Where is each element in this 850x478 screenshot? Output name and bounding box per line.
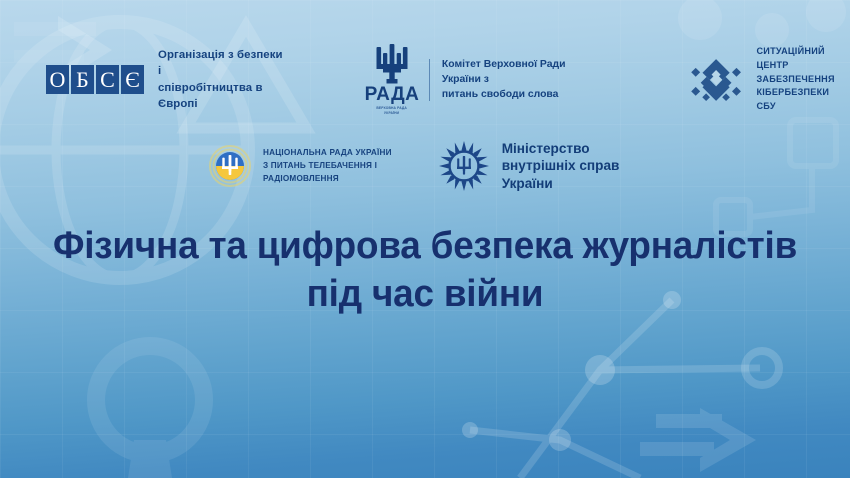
slide-title-line2: під час війни xyxy=(13,270,838,318)
pixel-diamond-icon xyxy=(688,49,744,111)
arrow-right-icon xyxy=(640,408,756,472)
mvs-caption: Міністерство внутрішніх справ України xyxy=(502,140,620,192)
network-node-ring xyxy=(745,351,779,385)
natsrada-caption: НАЦІОНАЛЬНА РАДА УКРАЇНИ З ПИТАНЬ ТЕЛЕБА… xyxy=(263,147,392,186)
mvs-caption-line1: Міністерство xyxy=(502,140,620,157)
rada-caption-line1: Комітет Верховної Ради України з xyxy=(442,57,599,88)
natsrada-caption-line3: РАДІОМОВЛЕННЯ xyxy=(263,173,392,186)
logo-osce: О Б С Є Організація з безпеки і співробі… xyxy=(46,47,283,112)
slide-title-line1: Фізична та цифрова безпека журналістів xyxy=(13,222,838,270)
sbu-cyber-caption-line3: КІБЕРБЕЗПЕКИ СБУ xyxy=(756,86,850,113)
osce-letter-s: С xyxy=(96,65,119,94)
rada-mark-icon: РАДА ВЕРХОВНА РАДА УКРАЇНИ xyxy=(363,44,421,115)
rada-subcaption: ВЕРХОВНА РАДА УКРАЇНИ xyxy=(377,106,408,115)
osce-letter-b: Б xyxy=(71,65,94,94)
keyhole-shape xyxy=(96,346,204,478)
network-nodes-shape xyxy=(470,300,760,478)
osce-caption-line2: співробітництва в Європі xyxy=(158,80,283,112)
rada-subcaption-line1: ВЕРХОВНА РАДА xyxy=(377,106,408,111)
logo-row-secondary: НАЦІОНАЛЬНА РАДА УКРАЇНИ З ПИТАНЬ ТЕЛЕБА… xyxy=(0,140,850,192)
logo-row-primary: О Б С Є Організація з безпеки і співробі… xyxy=(0,44,850,115)
natsrada-caption-line2: З ПИТАНЬ ТЕЛЕБАЧЕННЯ І xyxy=(263,160,392,173)
soft-blobs-shape xyxy=(678,0,846,47)
logo-mvs: Міністерство внутрішніх справ України xyxy=(438,140,620,192)
osce-letter-o: О xyxy=(46,65,69,94)
sbu-cyber-caption-line2: ЗАБЕЗПЕЧЕННЯ xyxy=(756,73,850,87)
sbu-cyber-caption-line1: СИТУАЦІЙНИЙ ЦЕНТР xyxy=(756,45,850,72)
mvs-starburst-icon xyxy=(438,140,490,192)
osce-caption-line1: Організація з безпеки і xyxy=(158,47,283,79)
mvs-caption-line3: України xyxy=(502,175,620,192)
rada-caption: Комітет Верховної Ради України з питань … xyxy=(442,57,599,103)
logo-sbu-cyber: СИТУАЦІЙНИЙ ЦЕНТР ЗАБЕЗПЕЧЕННЯ КІБЕРБЕЗП… xyxy=(688,45,850,113)
sbu-cyber-caption: СИТУАЦІЙНИЙ ЦЕНТР ЗАБЕЗПЕЧЕННЯ КІБЕРБЕЗП… xyxy=(756,45,850,113)
slide-title: Фізична та цифрова безпека журналістів п… xyxy=(13,222,838,319)
logo-rada: РАДА ВЕРХОВНА РАДА УКРАЇНИ Комітет Верхо… xyxy=(363,44,599,115)
rada-subcaption-line2: УКРАЇНИ xyxy=(377,111,408,116)
rada-divider xyxy=(429,59,430,101)
osce-letter-ye: Є xyxy=(121,65,144,94)
rada-caption-line2: питань свободи слова xyxy=(442,87,599,102)
rada-wordmark: РАДА xyxy=(365,85,420,104)
natsrada-caption-line1: НАЦІОНАЛЬНА РАДА УКРАЇНИ xyxy=(263,147,392,160)
trident-icon xyxy=(375,44,409,84)
osce-caption: Організація з безпеки і співробітництва … xyxy=(158,47,283,112)
mvs-caption-line2: внутрішніх справ xyxy=(502,157,620,174)
presentation-slide: О Б С Є Організація з безпеки і співробі… xyxy=(0,0,850,478)
logo-natsrada: НАЦІОНАЛЬНА РАДА УКРАЇНИ З ПИТАНЬ ТЕЛЕБА… xyxy=(208,144,392,188)
natsrada-emblem-icon xyxy=(208,144,252,188)
osce-mark-icon: О Б С Є xyxy=(46,65,144,94)
